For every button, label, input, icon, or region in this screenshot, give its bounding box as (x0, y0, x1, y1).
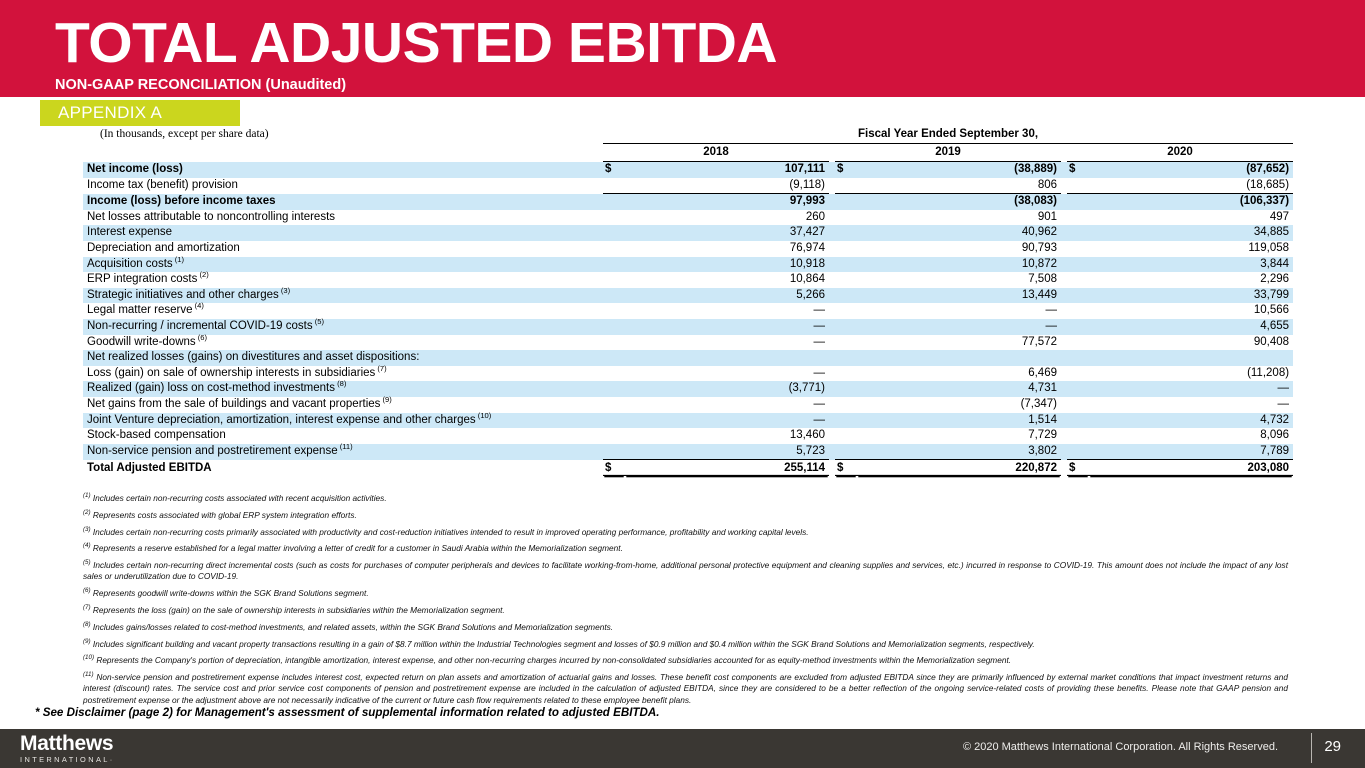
row-value-2020: — (1089, 381, 1293, 397)
footer-divider (1311, 733, 1312, 763)
footnote-marker: (2) (197, 270, 208, 279)
row-label: Goodwill write-downs (6) (83, 335, 603, 351)
row-value-2019: 40,962 (857, 225, 1061, 241)
table-row: Non-service pension and postretirement e… (83, 444, 1293, 460)
currency-symbol (1067, 288, 1089, 304)
row-value-2019: 6,469 (857, 366, 1061, 382)
footnote-marker: (11) (83, 671, 94, 678)
logo-wordmark: Matthews (20, 733, 115, 754)
row-value-2020: 33,799 (1089, 288, 1293, 304)
table-row: ERP integration costs (2)10,8647,5082,29… (83, 272, 1293, 288)
table-row: Realized (gain) loss on cost-method inve… (83, 381, 1293, 397)
row-value-2018: — (625, 335, 829, 351)
currency-symbol (603, 210, 625, 226)
currency-symbol (1067, 366, 1089, 382)
table-row: Strategic initiatives and other charges … (83, 288, 1293, 304)
footnote: (2) Represents costs associated with glo… (83, 510, 1288, 521)
row-value-2018: 255,114 (625, 460, 829, 477)
currency-symbol (835, 178, 857, 194)
matthews-logo: Matthews INTERNATIONAL· (20, 733, 115, 764)
currency-symbol (603, 397, 625, 413)
currency-symbol (603, 241, 625, 257)
row-value-2018: 107,111 (625, 162, 829, 178)
footnote-marker: (2) (83, 509, 91, 516)
row-value-2020: 119,058 (1089, 241, 1293, 257)
row-label: Non-service pension and postretirement e… (83, 444, 603, 460)
row-label: Net income (loss) (83, 162, 603, 178)
row-value-2018: (3,771) (625, 381, 829, 397)
currency-symbol (1067, 210, 1089, 226)
row-value-2018: 97,993 (625, 194, 829, 210)
row-value-2018: 260 (625, 210, 829, 226)
currency-symbol (835, 428, 857, 444)
footnote-marker: (11) (338, 442, 353, 451)
row-value-2020: 90,408 (1089, 335, 1293, 351)
footnote: (4) Represents a reserve established for… (83, 543, 1288, 554)
table-row: Income (loss) before income taxes97,993(… (83, 194, 1293, 210)
footnote: (9) Includes significant building and va… (83, 639, 1288, 650)
row-label: Total Adjusted EBITDA (83, 460, 603, 477)
footnote-marker: (7) (83, 604, 91, 611)
currency-symbol (1067, 335, 1089, 351)
row-label: Net realized losses (gains) on divestitu… (83, 350, 603, 366)
currency-symbol (603, 225, 625, 241)
row-label: Income (loss) before income taxes (83, 194, 603, 210)
row-value-2020: (106,337) (1089, 194, 1293, 210)
footnote-marker: (8) (83, 621, 91, 628)
table-row: Depreciation and amortization76,97490,79… (83, 241, 1293, 257)
currency-symbol: $ (1067, 460, 1089, 477)
footnote: (5) Includes certain non-recurring direc… (83, 560, 1288, 582)
currency-symbol: $ (835, 162, 857, 178)
currency-symbol: $ (1067, 162, 1089, 178)
row-value-2020: 34,885 (1089, 225, 1293, 241)
table-body: Net income (loss)$107,111$(38,889)$(87,6… (83, 162, 1293, 477)
page-number: 29 (1324, 738, 1341, 755)
appendix-badge: APPENDIX A (40, 100, 240, 126)
currency-symbol (835, 335, 857, 351)
row-value-2019: — (857, 303, 1061, 319)
column-header-2020: 2020 (1067, 144, 1293, 162)
row-value-2020: (11,208) (1089, 366, 1293, 382)
currency-symbol (1067, 303, 1089, 319)
disclaimer-note: * See Disclaimer (page 2) for Management… (35, 706, 659, 719)
footnote: (1) Includes certain non-recurring costs… (83, 493, 1288, 504)
footnote-list: (1) Includes certain non-recurring costs… (83, 493, 1288, 711)
ebitda-table-wrap: Fiscal Year Ended September 30, 2018 201… (83, 128, 1283, 476)
currency-symbol (1067, 241, 1089, 257)
row-value-2019: 7,508 (857, 272, 1061, 288)
row-label: Net gains from the sale of buildings and… (83, 397, 603, 413)
row-label: Interest expense (83, 225, 603, 241)
currency-symbol (603, 303, 625, 319)
footnote: (8) Includes gains/losses related to cos… (83, 622, 1288, 633)
currency-symbol (835, 413, 857, 429)
table-row: Legal matter reserve (4)——10,566 (83, 303, 1293, 319)
row-value-2018 (625, 350, 829, 366)
row-value-2018: (9,118) (625, 178, 829, 194)
column-header-2018: 2018 (603, 144, 829, 162)
footnote-marker: (6) (83, 587, 91, 594)
row-value-2020: 4,732 (1089, 413, 1293, 429)
row-value-2020: 7,789 (1089, 444, 1293, 460)
row-value-2018: — (625, 413, 829, 429)
row-label: Non-recurring / incremental COVID-19 cos… (83, 319, 603, 335)
table-row: Loss (gain) on sale of ownership interes… (83, 366, 1293, 382)
table-row: Net income (loss)$107,111$(38,889)$(87,6… (83, 162, 1293, 178)
row-value-2018: 5,723 (625, 444, 829, 460)
currency-symbol (603, 178, 625, 194)
row-value-2018: — (625, 319, 829, 335)
currency-symbol (1067, 444, 1089, 460)
currency-symbol (1067, 178, 1089, 194)
table-group-header-row: Fiscal Year Ended September 30, (83, 128, 1293, 144)
footnote-marker: (5) (313, 317, 324, 326)
row-value-2020: 203,080 (1089, 460, 1293, 477)
row-value-2020: 3,844 (1089, 257, 1293, 273)
row-value-2019: (38,889) (857, 162, 1061, 178)
footnote-marker: (5) (83, 559, 91, 566)
row-value-2019: 13,449 (857, 288, 1061, 304)
row-value-2019: 77,572 (857, 335, 1061, 351)
row-value-2020: 2,296 (1089, 272, 1293, 288)
row-value-2018: 37,427 (625, 225, 829, 241)
currency-symbol (1067, 319, 1089, 335)
row-value-2020 (1089, 350, 1293, 366)
row-value-2020: 10,566 (1089, 303, 1293, 319)
row-value-2018: 10,864 (625, 272, 829, 288)
currency-symbol (835, 303, 857, 319)
currency-symbol (1067, 350, 1089, 366)
row-value-2020: 8,096 (1089, 428, 1293, 444)
row-label: Joint Venture depreciation, amortization… (83, 413, 603, 429)
currency-symbol (603, 366, 625, 382)
row-value-2019 (857, 350, 1061, 366)
currency-symbol (835, 397, 857, 413)
table-row: Net realized losses (gains) on divestitu… (83, 350, 1293, 366)
footnote-marker: (8) (335, 379, 346, 388)
currency-symbol (603, 319, 625, 335)
currency-symbol (835, 381, 857, 397)
row-value-2020: — (1089, 397, 1293, 413)
row-value-2020: 497 (1089, 210, 1293, 226)
row-value-2020: (87,652) (1089, 162, 1293, 178)
page-subtitle: NON-GAAP RECONCILIATION (Unaudited) (55, 77, 346, 93)
row-value-2018: — (625, 366, 829, 382)
table-row: Goodwill write-downs (6)—77,57290,408 (83, 335, 1293, 351)
currency-symbol (1067, 397, 1089, 413)
row-label: Acquisition costs (1) (83, 257, 603, 273)
row-label: Net losses attributable to noncontrollin… (83, 210, 603, 226)
row-value-2019: 1,514 (857, 413, 1061, 429)
row-label: Legal matter reserve (4) (83, 303, 603, 319)
currency-symbol (835, 366, 857, 382)
footnote: (10) Represents the Company's portion of… (83, 655, 1288, 666)
row-value-2018: 13,460 (625, 428, 829, 444)
row-value-2018: 76,974 (625, 241, 829, 257)
footnote-marker: (1) (173, 255, 184, 264)
table-row: Total Adjusted EBITDA$255,114$220,872$20… (83, 460, 1293, 477)
table-year-header-row: 2018 2019 2020 (83, 144, 1293, 162)
currency-symbol (835, 257, 857, 273)
footnote-marker: (3) (83, 526, 91, 533)
footnote-marker: (3) (279, 286, 290, 295)
row-value-2019: 90,793 (857, 241, 1061, 257)
row-value-2019: 4,731 (857, 381, 1061, 397)
currency-symbol: $ (603, 460, 625, 477)
footnote-marker: (4) (192, 302, 203, 311)
currency-symbol (1067, 257, 1089, 273)
row-label: ERP integration costs (2) (83, 272, 603, 288)
table-row: Net gains from the sale of buildings and… (83, 397, 1293, 413)
ebitda-table: Fiscal Year Ended September 30, 2018 201… (83, 128, 1293, 476)
currency-symbol (603, 194, 625, 210)
fiscal-year-header: Fiscal Year Ended September 30, (603, 128, 1293, 144)
slide: TOTAL ADJUSTED EBITDA NON-GAAP RECONCILI… (0, 0, 1365, 768)
footnote: (3) Includes certain non-recurring costs… (83, 527, 1288, 538)
appendix-label: APPENDIX A (58, 103, 162, 123)
currency-symbol (603, 428, 625, 444)
row-value-2018: 5,266 (625, 288, 829, 304)
currency-symbol (603, 381, 625, 397)
footnote-marker: (10) (83, 655, 94, 662)
currency-symbol (1067, 413, 1089, 429)
row-label: Income tax (benefit) provision (83, 178, 603, 194)
currency-symbol: $ (603, 162, 625, 178)
currency-symbol (1067, 194, 1089, 210)
currency-symbol (835, 210, 857, 226)
currency-symbol (1067, 225, 1089, 241)
row-value-2019: 220,872 (857, 460, 1061, 477)
currency-symbol (603, 350, 625, 366)
row-value-2019: 3,802 (857, 444, 1061, 460)
footnote-marker: (9) (380, 395, 391, 404)
row-label: Stock-based compensation (83, 428, 603, 444)
currency-symbol (603, 444, 625, 460)
currency-symbol (835, 194, 857, 210)
row-value-2019: (7,347) (857, 397, 1061, 413)
currency-symbol (835, 241, 857, 257)
currency-symbol (603, 288, 625, 304)
currency-symbol (835, 225, 857, 241)
row-value-2019: 7,729 (857, 428, 1061, 444)
table-row: Income tax (benefit) provision(9,118)806… (83, 178, 1293, 194)
logo-subtext: INTERNATIONAL· (20, 755, 115, 764)
currency-symbol (835, 350, 857, 366)
row-label: Depreciation and amortization (83, 241, 603, 257)
currency-symbol (835, 288, 857, 304)
currency-symbol (603, 272, 625, 288)
table-row: Acquisition costs (1)10,91810,8723,844 (83, 257, 1293, 273)
copyright-text: © 2020 Matthews International Corporatio… (963, 741, 1278, 753)
currency-symbol (1067, 381, 1089, 397)
footnote-marker: (1) (83, 492, 91, 499)
row-value-2020: 4,655 (1089, 319, 1293, 335)
table-row: Non-recurring / incremental COVID-19 cos… (83, 319, 1293, 335)
row-value-2019: (38,083) (857, 194, 1061, 210)
table-row: Joint Venture depreciation, amortization… (83, 413, 1293, 429)
table-row: Interest expense37,42740,96234,885 (83, 225, 1293, 241)
page-title: TOTAL ADJUSTED EBITDA (55, 15, 777, 72)
row-value-2019: 806 (857, 178, 1061, 194)
column-header-2019: 2019 (835, 144, 1061, 162)
row-label: Strategic initiatives and other charges … (83, 288, 603, 304)
row-value-2019: — (857, 319, 1061, 335)
currency-symbol (835, 319, 857, 335)
row-value-2018: 10,918 (625, 257, 829, 273)
footnote: (11) Non-service pension and postretirem… (83, 672, 1288, 706)
row-value-2019: 10,872 (857, 257, 1061, 273)
footnote-marker: (6) (196, 333, 207, 342)
currency-symbol (835, 444, 857, 460)
footnote-marker: (9) (83, 638, 91, 645)
currency-symbol (1067, 428, 1089, 444)
currency-symbol (603, 335, 625, 351)
currency-symbol: $ (835, 460, 857, 477)
row-value-2020: (18,685) (1089, 178, 1293, 194)
row-value-2019: 901 (857, 210, 1061, 226)
footnote-marker: (7) (375, 364, 386, 373)
currency-symbol (603, 413, 625, 429)
table-row: Net losses attributable to noncontrollin… (83, 210, 1293, 226)
row-label: Realized (gain) loss on cost-method inve… (83, 381, 603, 397)
currency-symbol (603, 257, 625, 273)
table-row: Stock-based compensation13,4607,7298,096 (83, 428, 1293, 444)
row-value-2018: — (625, 303, 829, 319)
footnote: (6) Represents goodwill write-downs with… (83, 588, 1288, 599)
currency-symbol (1067, 272, 1089, 288)
row-value-2018: — (625, 397, 829, 413)
footnote: (7) Represents the loss (gain) on the sa… (83, 605, 1288, 616)
currency-symbol (835, 272, 857, 288)
footnote-marker: (10) (476, 411, 492, 420)
footnote-marker: (4) (83, 543, 91, 550)
